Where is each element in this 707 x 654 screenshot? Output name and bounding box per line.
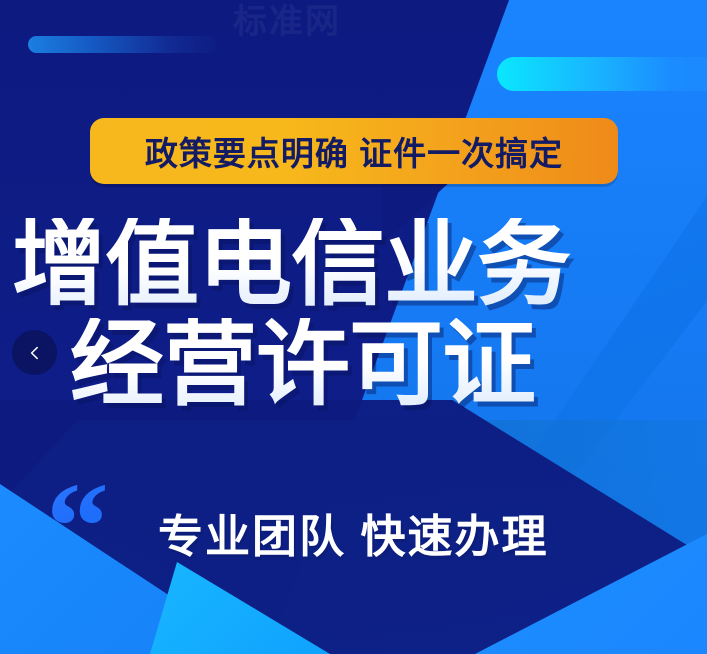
watermark-text: 标准网 bbox=[233, 0, 341, 43]
highlight-banner: 政策要点明确 证件一次搞定 bbox=[90, 118, 618, 184]
headline: 增值电信业务 经营许可证 bbox=[0, 218, 707, 410]
quote-mark-icon: “ bbox=[46, 465, 109, 591]
decorative-pill-right bbox=[497, 57, 707, 91]
subtitle-text: 专业团队 快速办理 bbox=[158, 500, 549, 565]
headline-line-1: 增值电信业务 bbox=[12, 218, 707, 310]
headline-line-2: 经营许可证 bbox=[70, 318, 707, 410]
carousel-prev-button[interactable] bbox=[12, 330, 57, 375]
highlight-banner-text: 政策要点明确 证件一次搞定 bbox=[145, 127, 563, 175]
banner-slide: 标准网 政策要点明确 证件一次搞定 增值电信业务 经营许可证 “ 专业团队 快速… bbox=[0, 0, 707, 654]
decorative-pill-left bbox=[28, 36, 218, 53]
chevron-left-icon bbox=[27, 345, 43, 361]
